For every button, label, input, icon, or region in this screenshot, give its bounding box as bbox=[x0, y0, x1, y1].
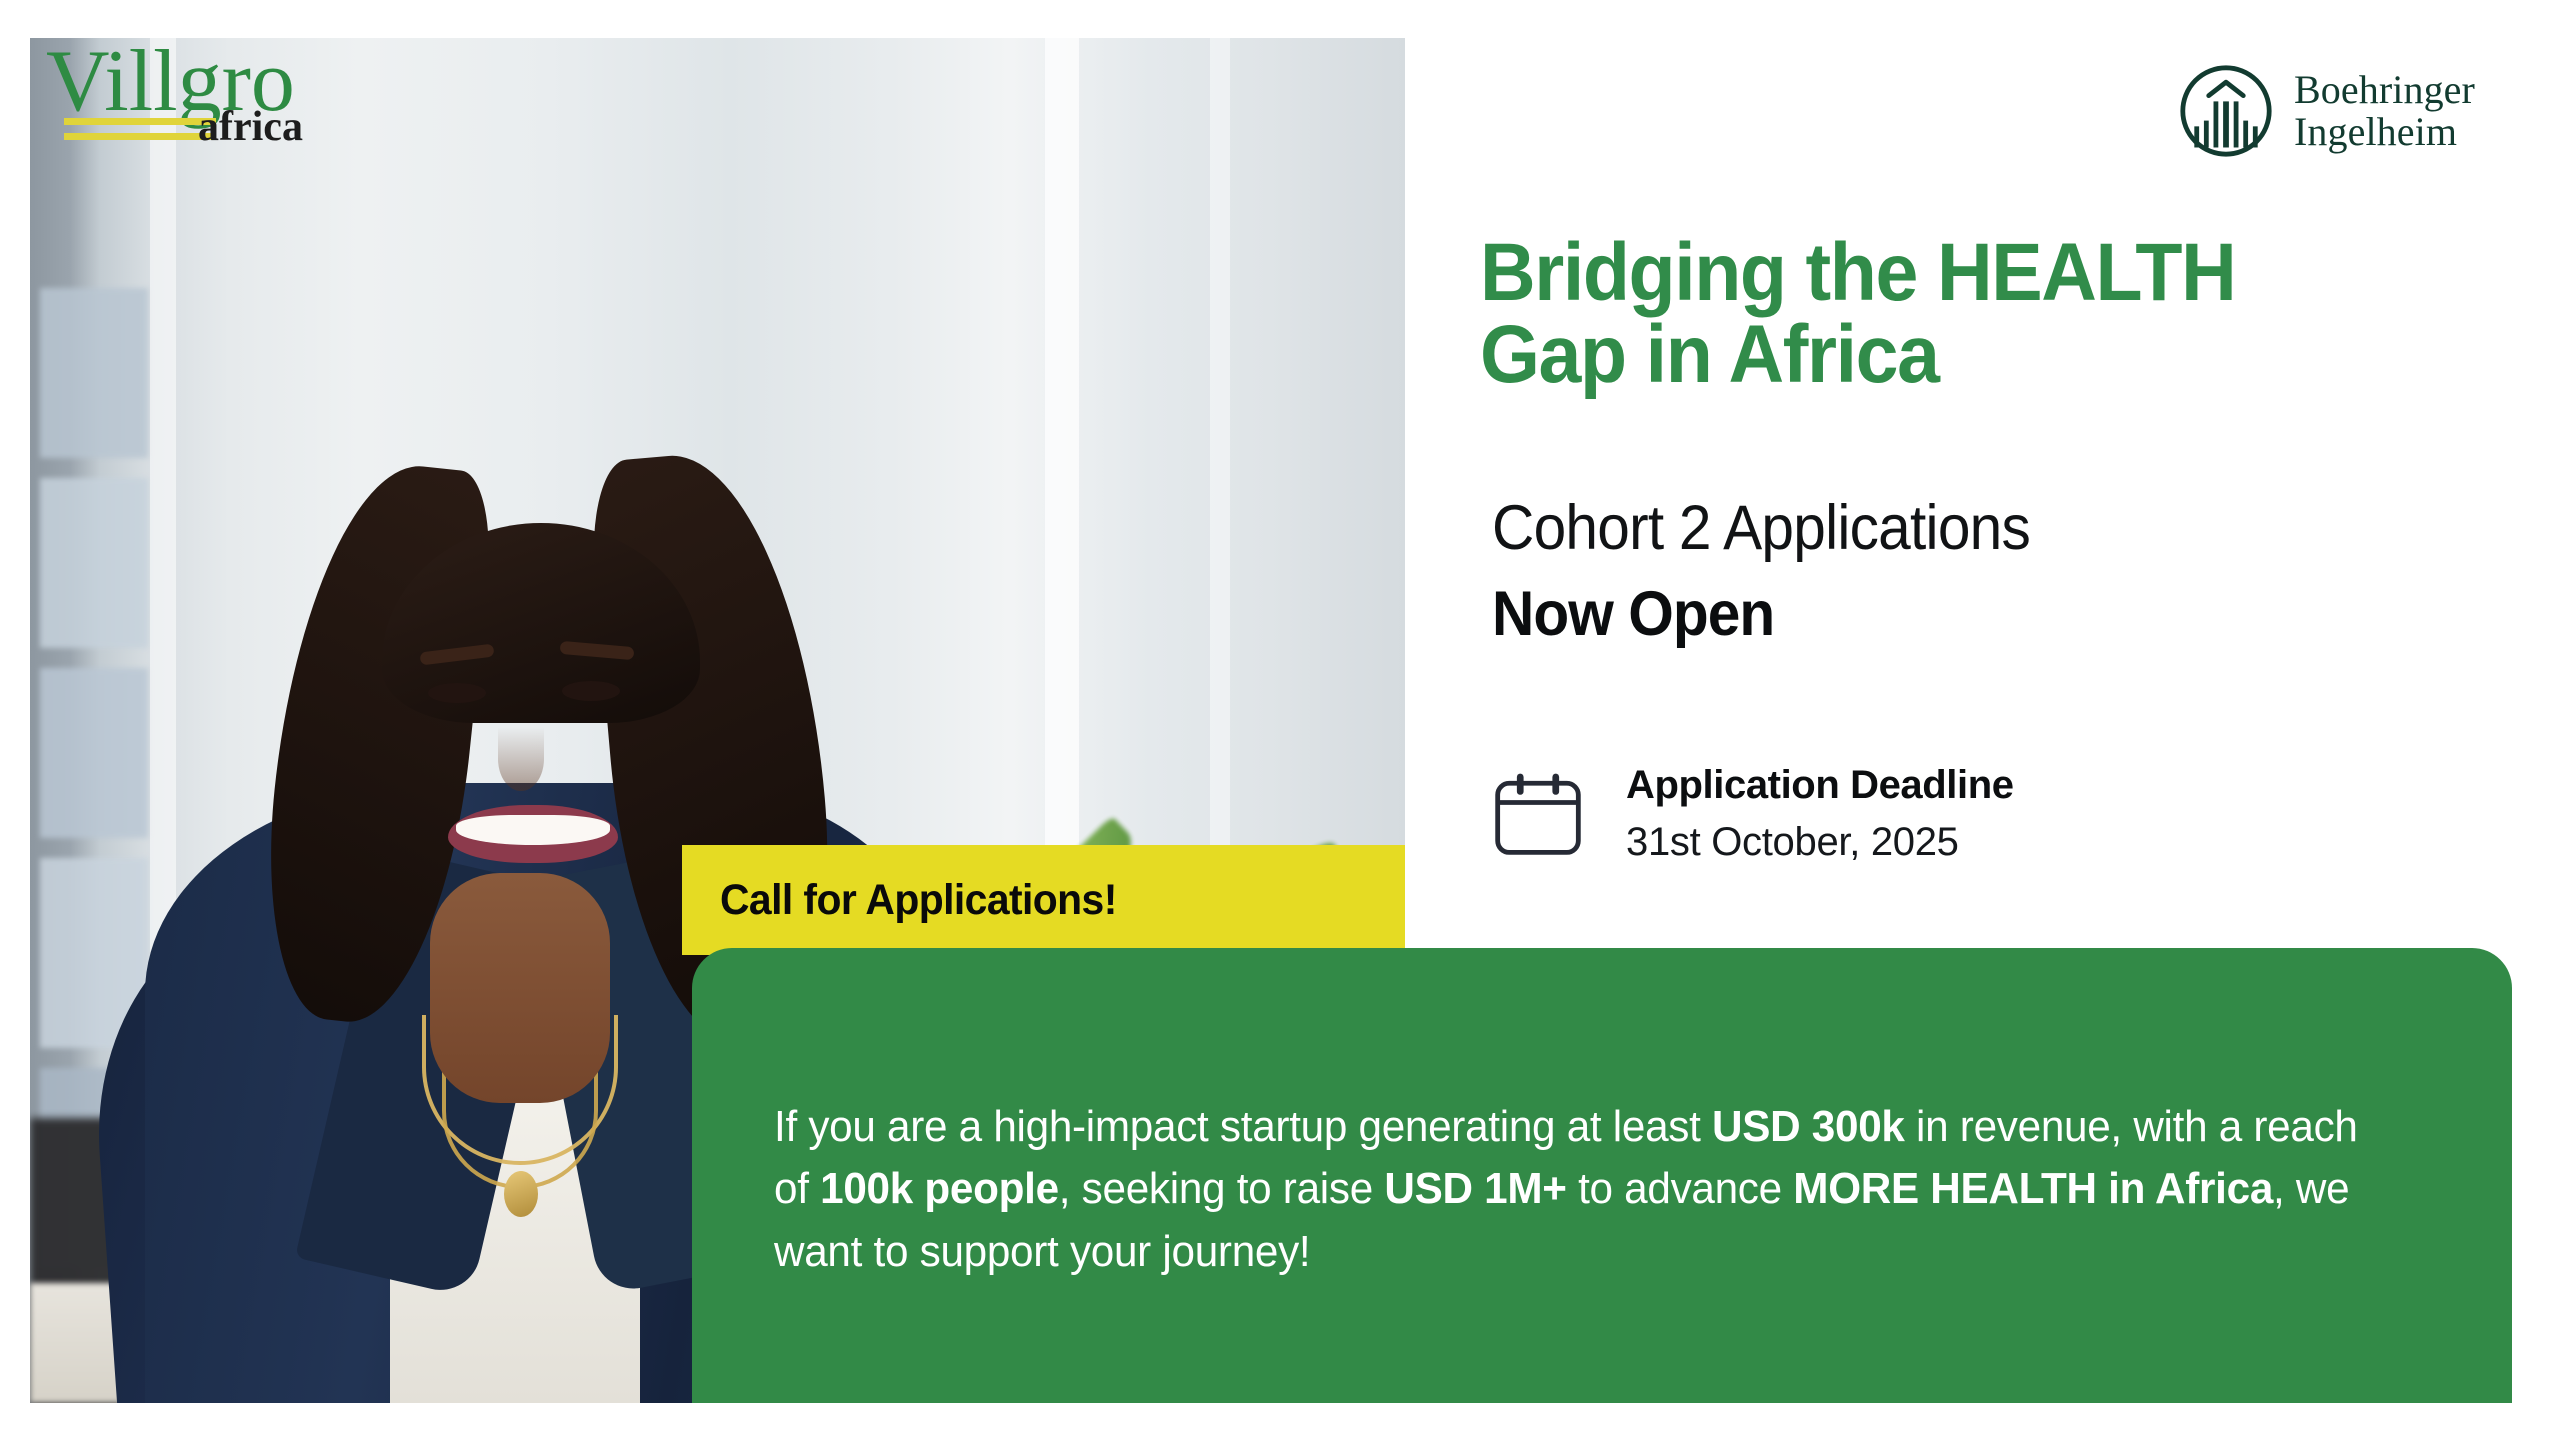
necklace-pendant bbox=[504, 1171, 538, 1217]
subheading-bold: Now Open bbox=[1492, 578, 1774, 650]
banner-label: Call for Applications! bbox=[720, 876, 1117, 925]
emphasis: USD 300k bbox=[1712, 1102, 1905, 1151]
boehringer-emblem-icon bbox=[2178, 63, 2274, 159]
teeth bbox=[456, 815, 610, 845]
smile bbox=[448, 805, 618, 863]
page-title: Bridging the HEALTH Gap in Africa bbox=[1480, 232, 2448, 396]
deadline-text-block: Application Deadline 31st October, 2025 bbox=[1626, 758, 2014, 868]
headline-line-1: Bridging the HEALTH bbox=[1480, 232, 2448, 314]
logo-accent-line bbox=[64, 118, 216, 125]
emphasis: USD 1M+ bbox=[1384, 1164, 1566, 1213]
villgro-africa-wordmark: africa bbox=[198, 104, 303, 148]
subheading-light: Cohort 2 Applications bbox=[1492, 492, 2030, 564]
emphasis: MORE HEALTH in Africa bbox=[1793, 1164, 2273, 1213]
villgro-africa-logo: Villgro africa bbox=[46, 38, 436, 148]
calendar-icon bbox=[1490, 766, 1586, 862]
application-deadline: Application Deadline 31st October, 2025 bbox=[1490, 758, 2014, 868]
nose bbox=[498, 727, 544, 791]
call-for-applications-banner: Call for Applications! bbox=[682, 845, 1405, 955]
boehringer-wordmark: Boehringer Ingelheim bbox=[2294, 69, 2475, 152]
boehringer-ingelheim-logo: Boehringer Ingelheim bbox=[2178, 56, 2518, 166]
eligibility-panel: If you are a high-impact startup generat… bbox=[692, 948, 2512, 1403]
eye bbox=[428, 683, 486, 703]
emphasis: 100k people bbox=[820, 1164, 1059, 1213]
eye bbox=[562, 681, 620, 701]
deadline-title: Application Deadline bbox=[1626, 760, 2014, 810]
deadline-date: 31st October, 2025 bbox=[1626, 816, 2014, 868]
villgro-logo-svg: Villgro africa bbox=[46, 38, 436, 148]
boehringer-line-2: Ingelheim bbox=[2294, 111, 2475, 153]
logo-accent-line bbox=[64, 133, 216, 140]
headline-line-2: Gap in Africa bbox=[1480, 314, 2448, 396]
boehringer-line-1: Boehringer bbox=[2294, 69, 2475, 111]
eligibility-text: If you are a high-impact startup generat… bbox=[774, 1096, 2358, 1283]
